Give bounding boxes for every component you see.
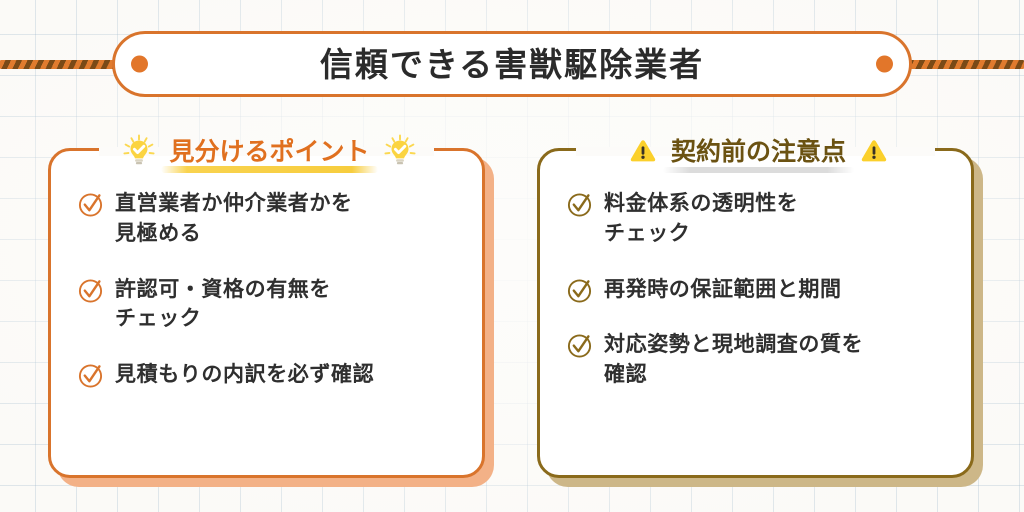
list-item-text: 直営業者か仲介業者かを見極める [115,189,353,249]
list-item: 再発時の保証範囲と期間 [566,275,951,305]
circle-check-icon [77,191,104,218]
list-item-text: 再発時の保証範囲と期間 [604,275,842,305]
list-item: 許認可・資格の有無をチェック [77,275,462,335]
list-item: 見積もりの内訳を必ず確認 [77,360,462,390]
list-item-text: 料金体系の透明性をチェック [604,189,798,249]
card-header-title: 見分けるポイント [165,139,373,164]
list-item-text: 対応姿勢と現地調査の質を確認 [604,330,863,390]
card-identify-points: 見分けるポイント [48,148,485,478]
warning-triangle-icon [859,136,889,166]
card-header: 契約前の注意点 [540,129,977,173]
list-item: 対応姿勢と現地調査の質を確認 [566,330,951,390]
header-underline [161,166,377,173]
circle-check-icon [566,332,593,359]
infographic-canvas: 信頼できる害獣駆除業者 [0,0,1024,512]
circle-check-icon [566,191,593,218]
lightbulb-check-icon [383,134,417,168]
circle-check-icon [77,277,104,304]
circle-check-icon [566,277,593,304]
circle-check-icon [77,362,104,389]
banner-dot-right [876,56,893,73]
card-body: 契約前の注意点 料 [537,148,974,478]
page-title: 信頼できる害獣駆除業者 [320,48,704,81]
list-item-text: 見積もりの内訳を必ず確認 [115,360,374,390]
list-item: 直営業者か仲介業者かを見極める [77,189,462,249]
title-banner: 信頼できる害獣駆除業者 [112,31,912,97]
banner-dot-left [131,56,148,73]
list-item: 料金体系の透明性をチェック [566,189,951,249]
list-item-text: 許認可・資格の有無をチェック [115,275,331,335]
card-header-title: 契約前の注意点 [667,139,850,164]
lightbulb-check-icon [122,134,156,168]
card-body: 見分けるポイント [48,148,485,478]
header-underline [663,167,854,173]
card-item-list: 料金体系の透明性をチェック 再発時の保証範囲と期間 [566,189,951,390]
warning-triangle-icon [628,136,658,166]
card-pre-contract-cautions: 契約前の注意点 料 [537,148,974,478]
title-ribbon: 信頼できる害獣駆除業者 [0,31,1024,97]
card-item-list: 直営業者か仲介業者かを見極める 許認可・資格の有無をチェック [77,189,462,390]
card-header: 見分けるポイント [51,129,488,173]
